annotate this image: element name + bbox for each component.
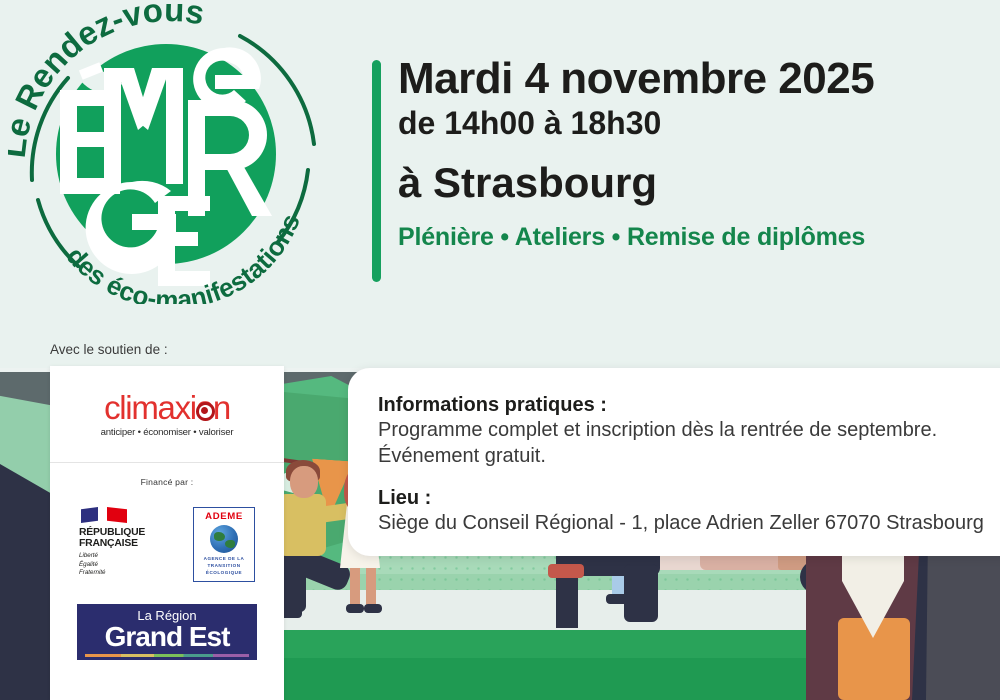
illustration-grill-man-shin: [624, 564, 658, 622]
info-body-address: Siège du Conseil Régional - 1, place Adr…: [378, 510, 1000, 536]
ademe-title: ADEME: [196, 511, 252, 522]
practical-info-card: Informations pratiques : Programme compl…: [348, 368, 1000, 556]
globe-icon: [210, 525, 238, 553]
ademe-sub3: ÉCOLOGIQUE: [196, 570, 252, 577]
event-program: Plénière • Ateliers • Remise de diplômes: [398, 223, 992, 252]
ademe-logo: ADEME AGENCE DE LA TRANSITION ÉCOLOGIQUE: [193, 507, 255, 582]
info-body-program: Programme complet et inscription dès la …: [378, 417, 1000, 443]
republique-francaise-logo: RÉPUBLIQUE FRANÇAISE Liberté Égalité Fra…: [79, 507, 171, 577]
climaxion-wordmark: climaxion: [104, 391, 230, 424]
support-label: Avec le soutien de :: [50, 342, 168, 357]
event-city: à Strasbourg: [398, 158, 992, 208]
event-time: de 14h00 à 18h30: [398, 104, 992, 142]
info-heading-practical: Informations pratiques :: [378, 394, 1000, 417]
motto-egalite: Égalité: [79, 561, 171, 569]
sponsors-panel: climaxion anticiper • économiser • valor…: [50, 366, 284, 700]
climaxion-tagline: anticiper • économiser • valoriser: [101, 427, 234, 438]
illustration-girl-leg-left: [350, 566, 360, 608]
illustration-girl-shoe-right: [364, 604, 382, 613]
illustration-stool-leg: [556, 576, 578, 628]
grand-est-logo: La Région Grand Est: [77, 604, 257, 660]
grand-est-line1: La Région: [85, 609, 249, 622]
motto-liberte: Liberté: [79, 552, 171, 560]
republique-line2: FRANÇAISE: [79, 538, 171, 549]
illustration-girl-shoe-left: [346, 604, 364, 613]
illustration-dad-head: [290, 466, 318, 498]
illustration-dad-torso: [278, 494, 326, 556]
ademe-sub1: AGENCE DE LA: [196, 556, 252, 563]
event-details: Mardi 4 novembre 2025 de 14h00 à 18h30 à…: [372, 56, 992, 252]
accent-bar: [372, 60, 381, 282]
info-body-free: Événement gratuit.: [378, 443, 1000, 469]
funded-by-label: Financé par :: [50, 477, 284, 487]
grand-est-line2: Grand Est: [85, 622, 249, 651]
info-heading-location: Lieu :: [378, 487, 1000, 510]
ademe-sub2: TRANSITION: [196, 563, 252, 570]
grand-est-color-bar: [85, 654, 249, 657]
climaxion-dot-icon: [196, 402, 215, 421]
illustration-girl-leg-right: [366, 566, 376, 608]
republique-line1: RÉPUBLIQUE: [79, 527, 171, 538]
illustration-stool-seat: [548, 564, 584, 578]
french-flag-icon: [81, 507, 133, 523]
emerge-logo: Le Rendez-vous des éco-manifestations: [8, 4, 338, 304]
climaxion-logo: climaxion anticiper • économiser • valor…: [50, 366, 284, 463]
event-date: Mardi 4 novembre 2025: [398, 56, 992, 102]
poster-root: Le Rendez-vous des éco-manifestations Ma…: [0, 0, 1000, 700]
motto-fraternite: Fraternité: [79, 569, 171, 577]
